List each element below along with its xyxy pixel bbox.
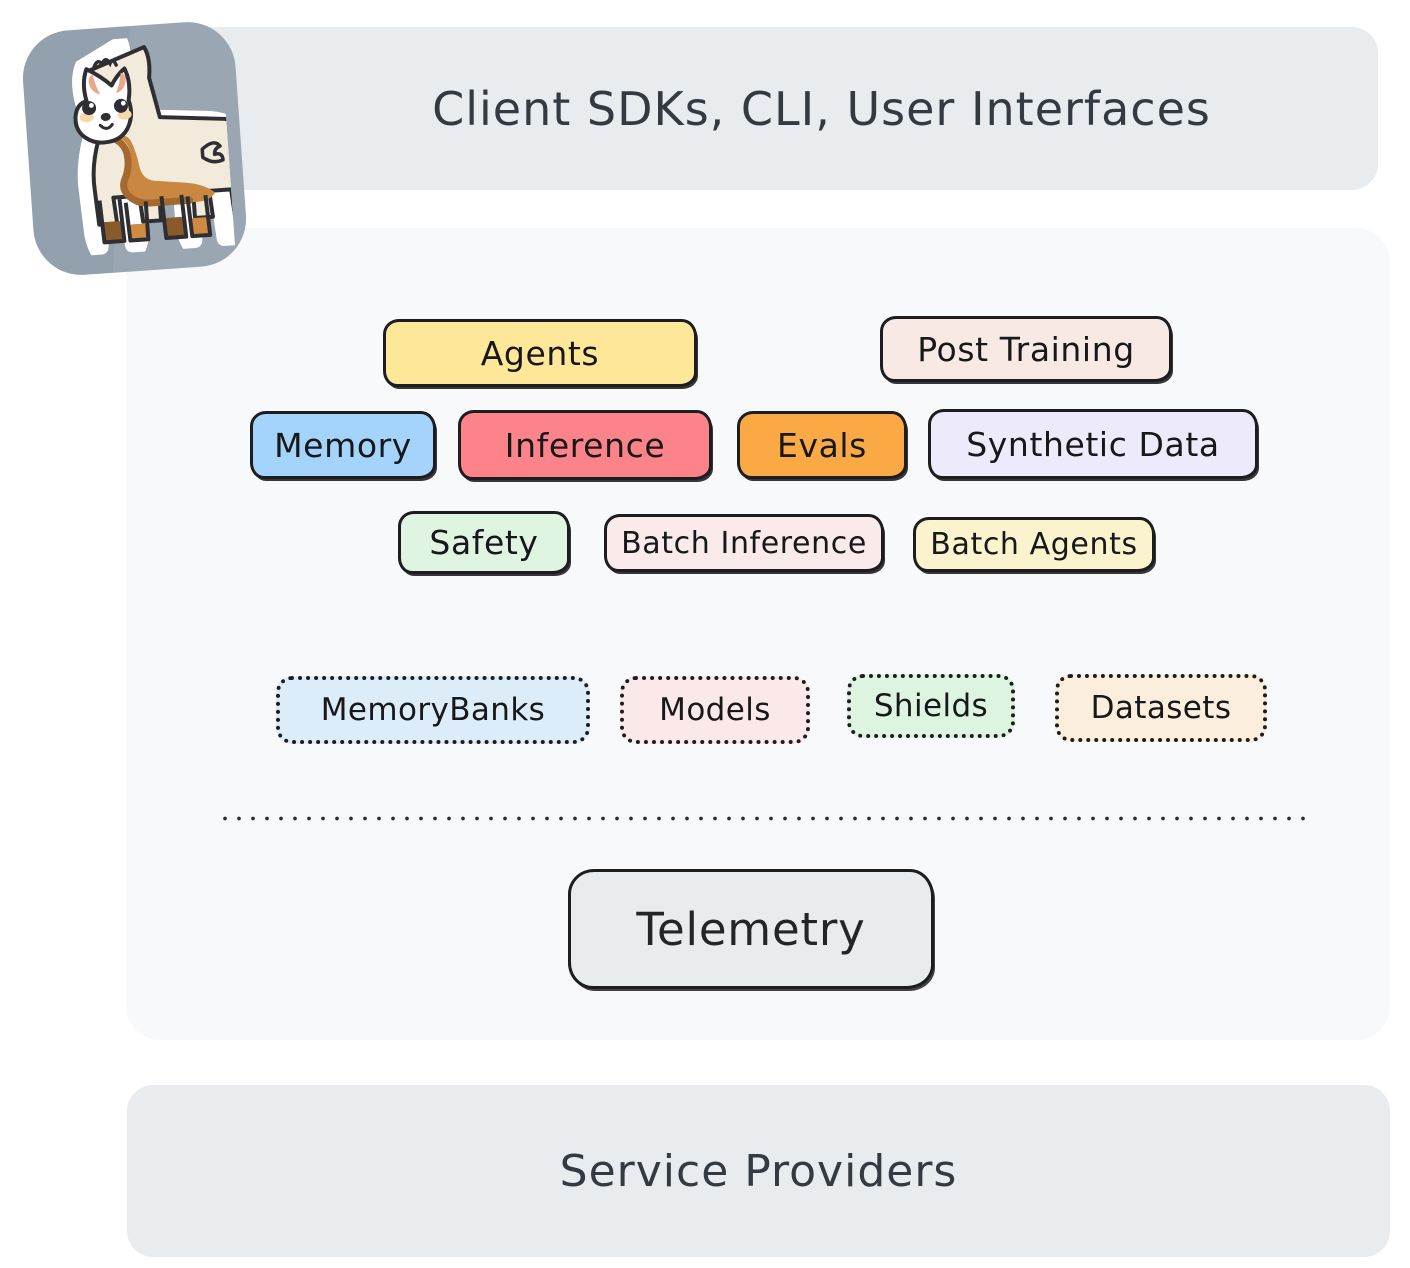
api-box-label: Memory: [274, 426, 412, 465]
client-interfaces-bar: Client SDKs, CLI, User Interfaces: [185, 27, 1378, 190]
client-interfaces-title: Client SDKs, CLI, User Interfaces: [432, 82, 1211, 136]
api-box-label: Agents: [481, 334, 599, 373]
api-box-batch-agents[interactable]: Batch Agents: [913, 517, 1155, 572]
service-providers-title: Service Providers: [560, 1146, 958, 1197]
resource-box-label: MemoryBanks: [321, 692, 546, 728]
api-box-synthetic-data[interactable]: Synthetic Data: [928, 409, 1258, 479]
api-box-memory[interactable]: Memory: [250, 411, 436, 479]
api-box-label: Evals: [777, 426, 867, 465]
api-box-label: Batch Inference: [621, 526, 867, 561]
service-providers-bar: Service Providers: [127, 1085, 1390, 1257]
telemetry-label: Telemetry: [636, 903, 865, 956]
api-box-evals[interactable]: Evals: [737, 411, 907, 479]
resource-box-memorybanks[interactable]: MemoryBanks: [276, 676, 590, 744]
api-box-post-training[interactable]: Post Training: [880, 316, 1172, 382]
api-box-batch-inference[interactable]: Batch Inference: [604, 514, 884, 572]
api-box-label: Inference: [505, 426, 665, 465]
api-box-inference[interactable]: Inference: [458, 410, 712, 480]
api-box-label: Batch Agents: [930, 527, 1137, 562]
resource-box-models[interactable]: Models: [620, 676, 810, 744]
resource-box-label: Datasets: [1091, 690, 1232, 726]
api-surface-panel: AgentsPost TrainingMemoryInferenceEvalsS…: [126, 228, 1390, 1040]
resource-box-datasets[interactable]: Datasets: [1055, 674, 1267, 742]
resource-box-shields[interactable]: Shields: [847, 674, 1015, 738]
api-box-label: Safety: [429, 523, 538, 562]
api-box-safety[interactable]: Safety: [398, 511, 570, 574]
api-box-label: Synthetic Data: [966, 425, 1219, 464]
llama-logo-icon: [35, 32, 236, 266]
section-divider: [218, 816, 1308, 821]
api-box-label: Post Training: [917, 330, 1135, 369]
api-box-agents[interactable]: Agents: [383, 319, 697, 387]
llama-logo-tile: [20, 19, 250, 278]
telemetry-box[interactable]: Telemetry: [568, 869, 934, 989]
resource-box-label: Shields: [874, 688, 988, 724]
resource-box-label: Models: [659, 692, 771, 728]
